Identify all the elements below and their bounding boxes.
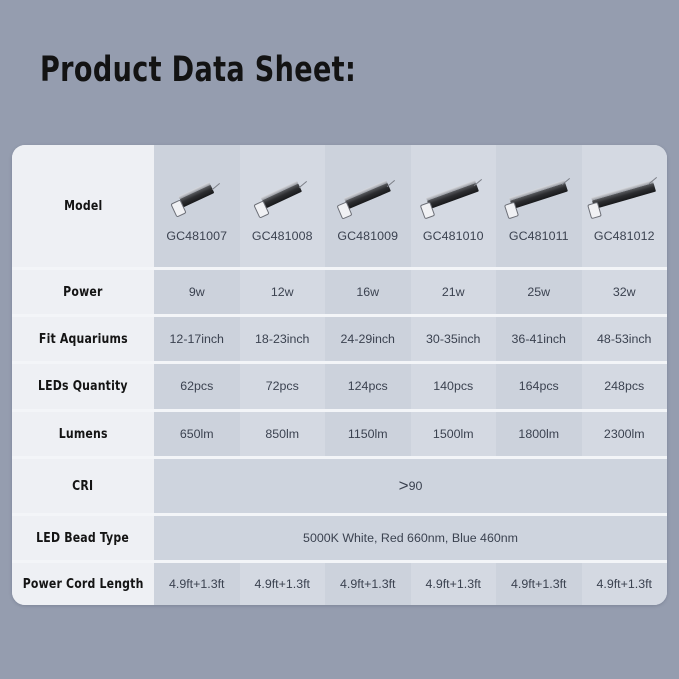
row-label-power: Power (12, 269, 154, 316)
aquarium-led-light-bar-icon (413, 170, 493, 222)
lumens-cell: 2300lm (582, 410, 668, 457)
leds-quantity-cell: 72pcs (240, 363, 326, 410)
model-id: GC481012 (594, 229, 655, 243)
lumens-cell: 1150lm (325, 410, 411, 457)
power-cord-length-cell: 4.9ft+1.3ft (411, 561, 497, 605)
model-cell: GC481012 (582, 145, 668, 269)
model-cell: GC481009 (325, 145, 411, 269)
row-label-fit-aquariums: Fit Aquariums (12, 316, 154, 363)
leds-quantity-cell: 140pcs (411, 363, 497, 410)
power-cell: 12w (240, 269, 326, 316)
model-id: GC481010 (423, 229, 484, 243)
fit-aquariums-cell: 30-35inch (411, 316, 497, 363)
model-id: GC481007 (166, 229, 227, 243)
fit-aquariums-cell: 18-23inch (240, 316, 326, 363)
lumens-cell: 850lm (240, 410, 326, 457)
fit-aquariums-cell: 12-17inch (154, 316, 240, 363)
aquarium-led-light-bar-icon (499, 170, 579, 222)
leds-quantity-cell: 62pcs (154, 363, 240, 410)
lumens-cell: 1800lm (496, 410, 582, 457)
fit-aquariums-cell: 36-41inch (496, 316, 582, 363)
table-row-model: Model GC481007 (12, 145, 667, 269)
model-cell: GC481008 (240, 145, 326, 269)
led-bead-type-cell: 5000K White, Red 660nm, Blue 460nm (154, 514, 667, 561)
power-cell: 21w (411, 269, 497, 316)
row-label-power-cord-length: Power Cord Length (12, 561, 154, 605)
aquarium-led-light-bar-icon (242, 170, 322, 222)
lumens-cell: 1500lm (411, 410, 497, 457)
table-row-led-bead-type: LED Bead Type 5000K White, Red 660nm, Bl… (12, 514, 667, 561)
model-id: GC481009 (337, 229, 398, 243)
table-row-fit-aquariums: Fit Aquariums 12-17inch 18-23inch 24-29i… (12, 316, 667, 363)
model-id: GC481008 (252, 229, 313, 243)
leds-quantity-cell: 124pcs (325, 363, 411, 410)
fit-aquariums-cell: 24-29inch (325, 316, 411, 363)
aquarium-led-light-bar-icon (584, 170, 664, 222)
row-label-model: Model (12, 145, 154, 269)
table-row-power-cord-length: Power Cord Length 4.9ft+1.3ft 4.9ft+1.3f… (12, 561, 667, 605)
table-row-power: Power 9w 12w 16w 21w 25w 32w (12, 269, 667, 316)
row-label-led-bead-type: LED Bead Type (12, 514, 154, 561)
table-row-cri: CRI >90 (12, 457, 667, 514)
row-label-leds-quantity: LEDs Quantity (12, 363, 154, 410)
model-id: GC481011 (509, 229, 569, 243)
power-cord-length-cell: 4.9ft+1.3ft (582, 561, 668, 605)
leds-quantity-cell: 248pcs (582, 363, 668, 410)
power-cord-length-cell: 4.9ft+1.3ft (154, 561, 240, 605)
power-cord-length-cell: 4.9ft+1.3ft (240, 561, 326, 605)
cri-value: 90 (409, 479, 423, 493)
aquarium-led-light-bar-icon (328, 170, 408, 222)
model-cell: GC481007 (154, 145, 240, 269)
power-cell: 25w (496, 269, 582, 316)
model-cell: GC481010 (411, 145, 497, 269)
product-data-sheet-page: Product Data Sheet: Model (0, 0, 679, 679)
power-cell: 32w (582, 269, 668, 316)
fit-aquariums-cell: 48-53inch (582, 316, 668, 363)
power-cell: 9w (154, 269, 240, 316)
row-label-lumens: Lumens (12, 410, 154, 457)
lumens-cell: 650lm (154, 410, 240, 457)
table-row-lumens: Lumens 650lm 850lm 1150lm 1500lm 1800lm … (12, 410, 667, 457)
row-label-cri: CRI (12, 457, 154, 514)
power-cell: 16w (325, 269, 411, 316)
power-cord-length-cell: 4.9ft+1.3ft (325, 561, 411, 605)
page-title: Product Data Sheet: (40, 50, 356, 90)
table-row-leds-quantity: LEDs Quantity 62pcs 72pcs 124pcs 140pcs … (12, 363, 667, 410)
specification-table: Model GC481007 (12, 145, 667, 605)
cri-cell: >90 (154, 457, 667, 514)
aquarium-led-light-bar-icon (157, 170, 237, 222)
power-cord-length-cell: 4.9ft+1.3ft (496, 561, 582, 605)
leds-quantity-cell: 164pcs (496, 363, 582, 410)
greater-than-icon: > (399, 476, 409, 495)
model-cell: GC481011 (496, 145, 582, 269)
